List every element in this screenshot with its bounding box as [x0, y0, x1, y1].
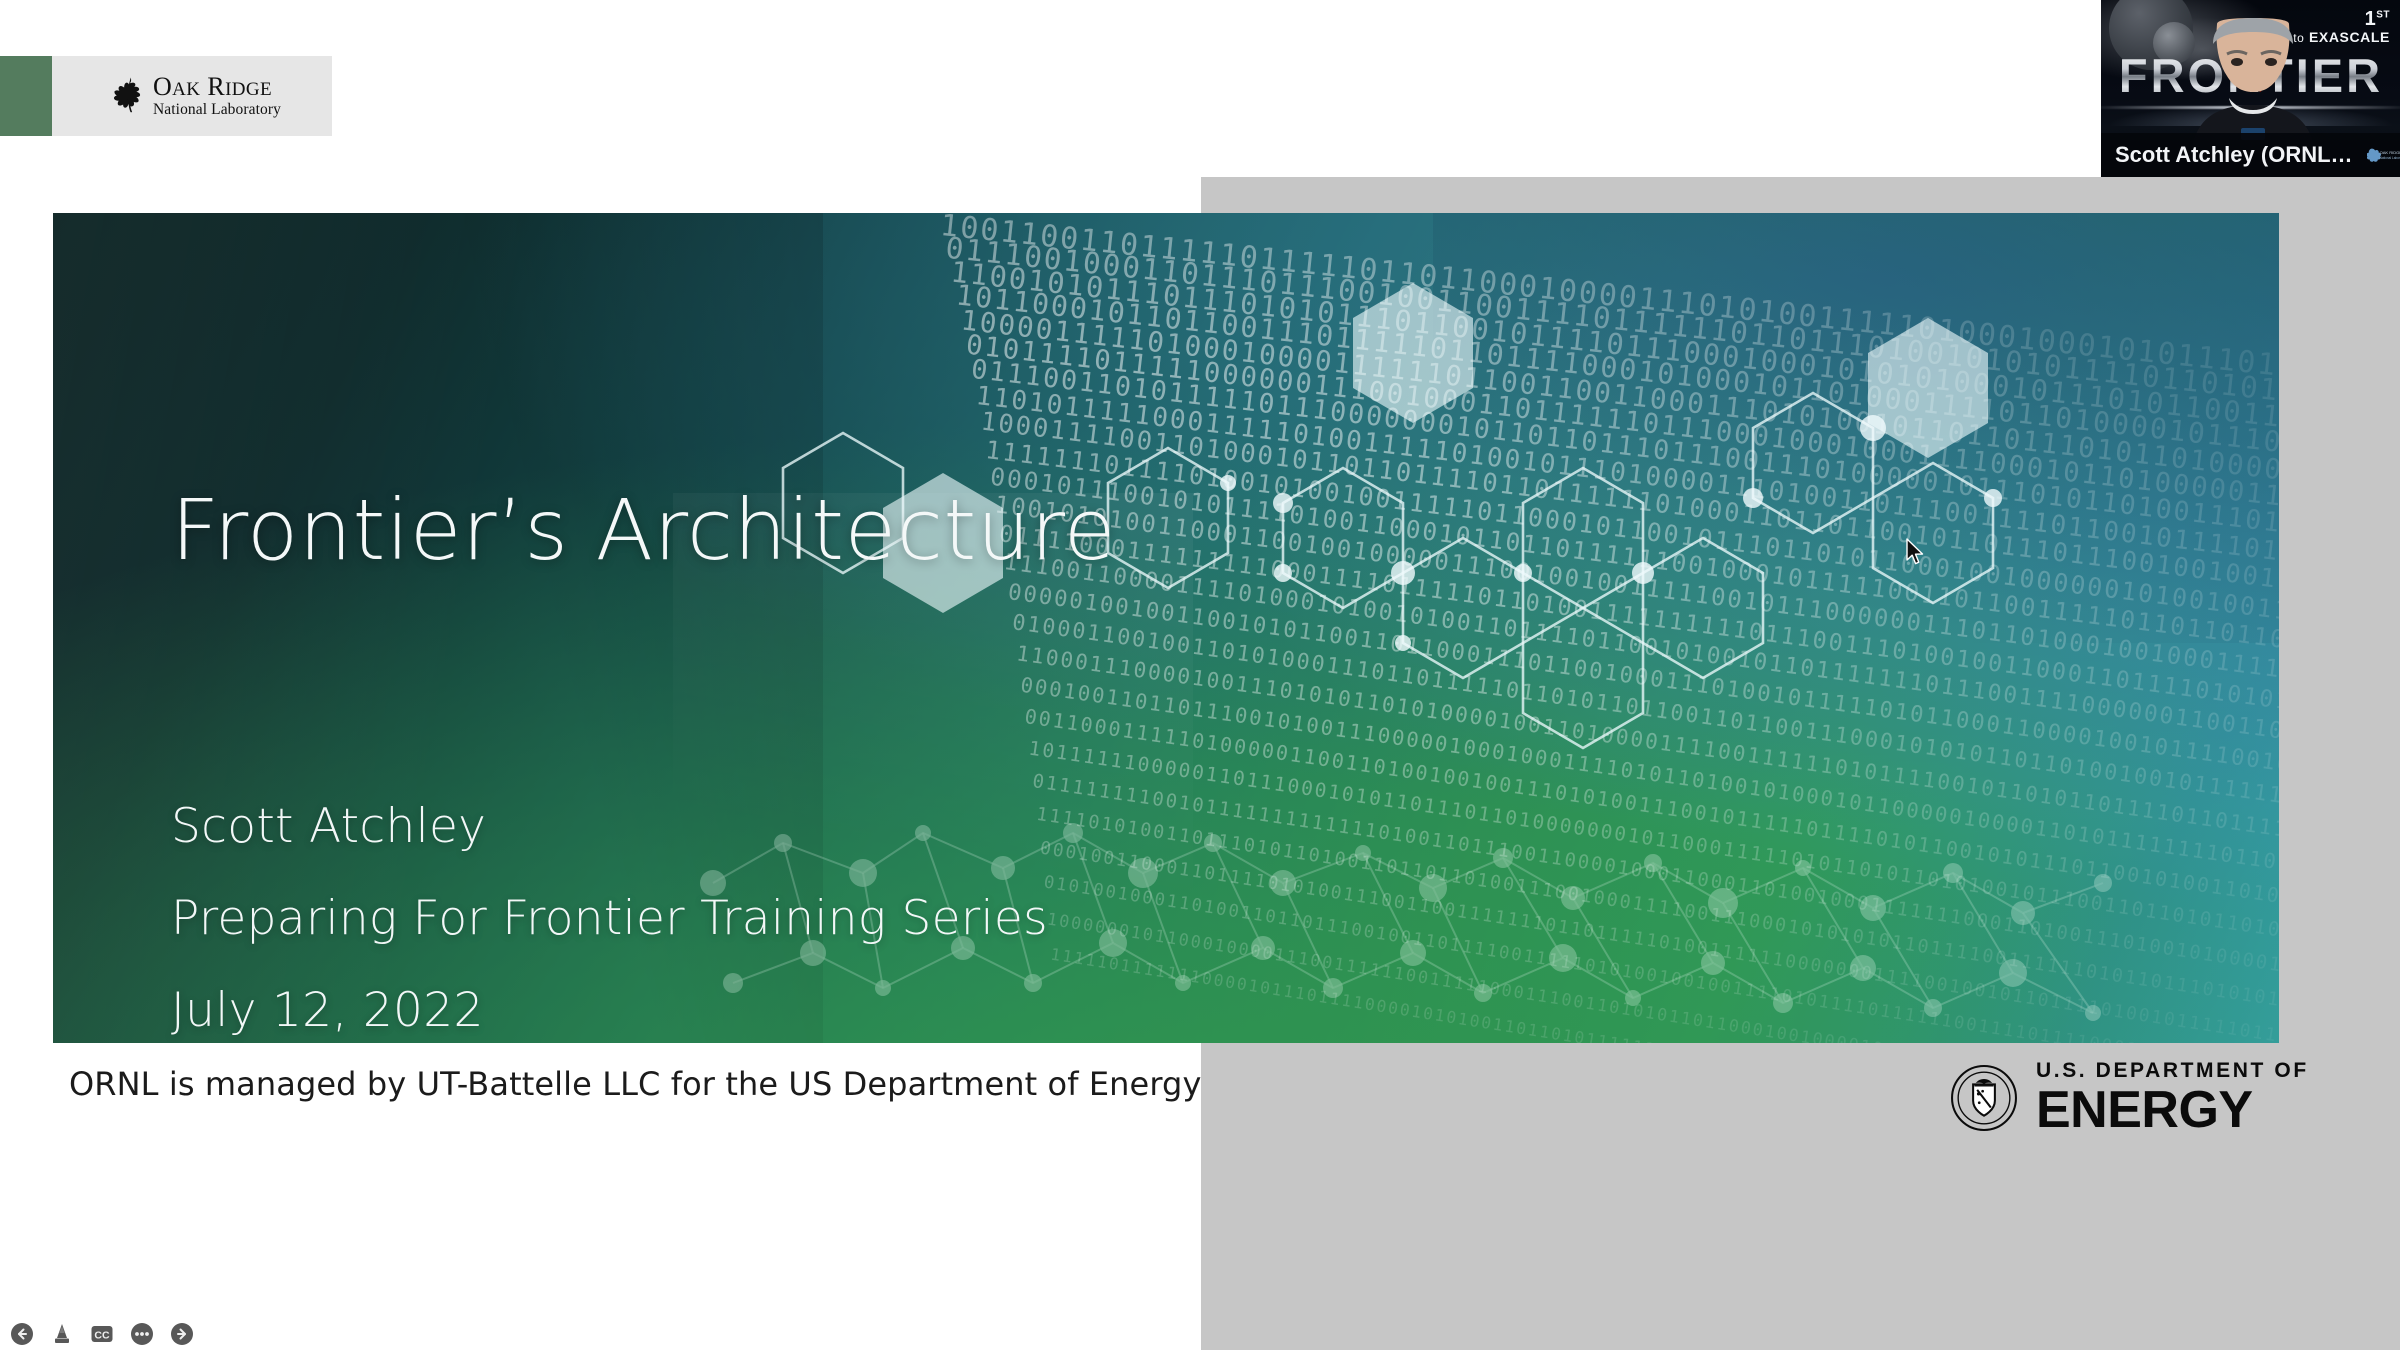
slide-title: Frontier’s Architecture	[171, 481, 1116, 579]
slide-footer-note: ORNL is managed by UT-Battelle LLC for t…	[69, 1065, 1202, 1103]
cc-icon[interactable]: CC	[90, 1322, 114, 1346]
binary-row: 1101011111000111110100111110100101110100…	[975, 383, 2279, 726]
binary-row: 1011000101101100111011111011011110001010…	[955, 281, 2279, 626]
player-controls: CC	[10, 1322, 194, 1346]
doe-logo-line-2: ENERGY	[2036, 1084, 2309, 1136]
slide-subtitle-line: Scott Atchley	[171, 799, 1048, 854]
binary-row: 1000011111010001000011111101100110011000…	[960, 306, 2279, 651]
slide-subtitle-block: Scott Atchley Preparing For Frontier Tra…	[171, 799, 1048, 1043]
doe-logo: U.S. DEPARTMENT OF ENERGY	[1950, 1060, 2309, 1136]
arrow-right-circle-icon[interactable]	[170, 1322, 194, 1346]
slide-subtitle-line: Preparing For Frontier Training Series	[171, 891, 1048, 946]
ornl-header-logo: OAK RIDGE National Laboratory	[0, 56, 332, 136]
svg-text:CC: CC	[94, 1329, 110, 1341]
binary-row: 0101111011111000000111001000110111111011…	[965, 331, 2279, 675]
ornl-logo-plate: OAK RIDGE National Laboratory	[52, 56, 332, 136]
binary-row: 0111001000110111011100100110011110111111…	[944, 234, 2279, 579]
binary-row: 1100101011101110101011101100101111011100…	[949, 257, 2279, 602]
viewport-filler-right	[2279, 177, 2400, 1350]
doe-logo-line-1: U.S. DEPARTMENT OF	[2036, 1060, 2309, 1081]
slide-canvas[interactable]: 1001100110111110111110110110001000011101…	[53, 213, 2279, 1043]
participant-video-tile[interactable]: FRONTIER 1ST to EXASCALE Scott Atchley (…	[2101, 0, 2400, 177]
oak-leaf-icon	[113, 76, 147, 116]
svg-text:OAK RIDGE: OAK RIDGE	[2379, 150, 2400, 155]
ellipsis-circle-icon[interactable]	[130, 1322, 154, 1346]
ornl-logo-line-2: National Laboratory	[153, 102, 281, 118]
binary-row: 1001100110111110111110110110001000011101…	[939, 213, 2279, 555]
raise-hand-icon[interactable]	[50, 1322, 74, 1346]
presentation-viewer: OAK RIDGE National Laboratory 1001100110…	[0, 0, 2400, 1350]
badge-number: 1	[2365, 8, 2377, 30]
participant-name-bar: Scott Atchley (ORNL… OAK RIDGE National …	[2101, 133, 2400, 177]
ornl-watermark-icon: OAK RIDGE National Laboratory	[2367, 145, 2400, 165]
ornl-green-bar	[0, 56, 52, 136]
svg-text:National Laboratory: National Laboratory	[2379, 156, 2400, 160]
arrow-left-circle-icon[interactable]	[10, 1322, 34, 1346]
binary-row: 0111001101011111011100000001011011011101…	[970, 357, 2279, 701]
slide-facet	[1433, 213, 2279, 643]
slide-subtitle-line: July 12, 2022	[171, 983, 1048, 1038]
doe-seal-icon	[1950, 1064, 2018, 1132]
badge-suffix: ST	[2376, 9, 2390, 20]
ornl-logo-line-1: OAK RIDGE	[153, 74, 281, 100]
participant-name: Scott Atchley (ORNL…	[2115, 142, 2353, 168]
